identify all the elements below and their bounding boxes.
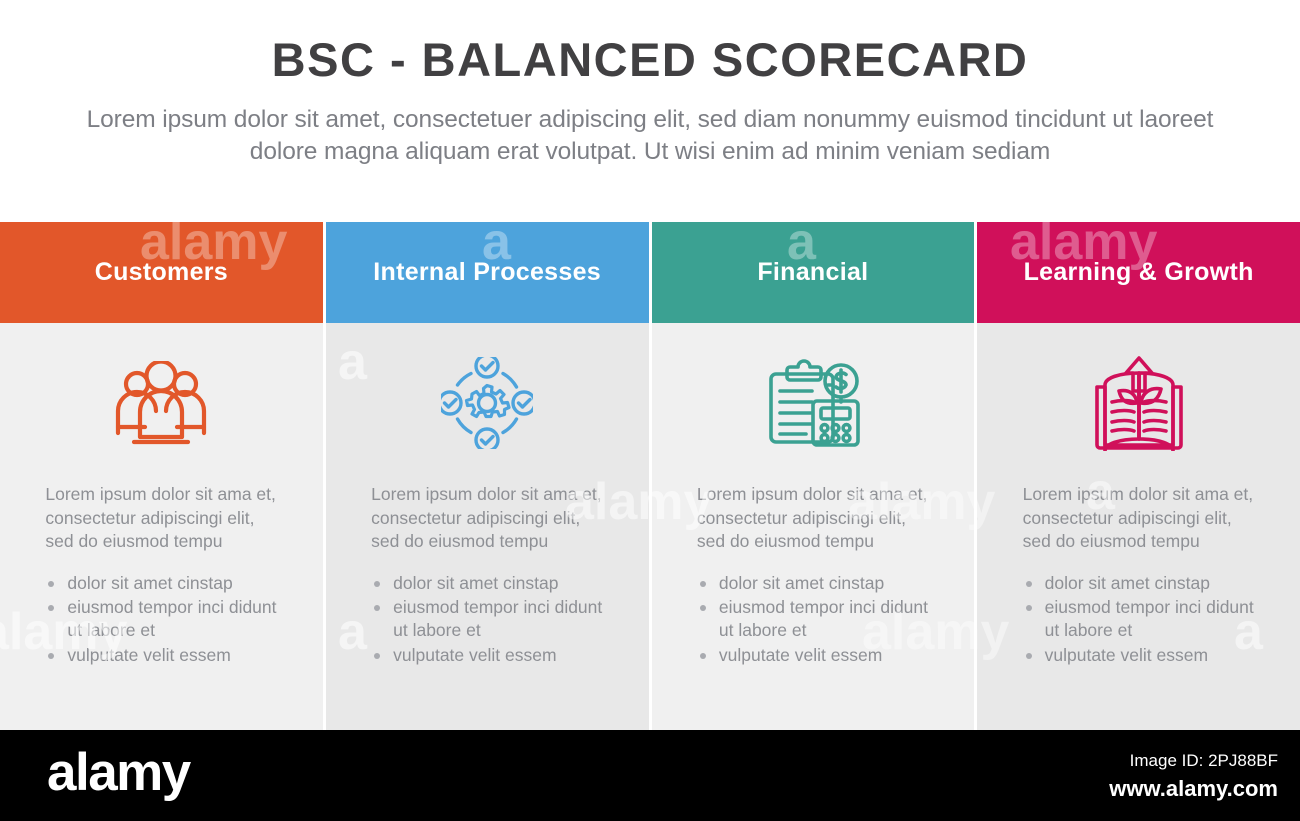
page-title: BSC - BALANCED SCORECARD xyxy=(0,34,1300,87)
column-title: Internal Processes xyxy=(373,258,601,287)
column-description: Lorem ipsum dolor sit ama et, consectetu… xyxy=(1023,483,1255,554)
column-customers[interactable]: Customers Lorem ipsum xyxy=(0,222,323,730)
list-item: dolor sit amet cinstap xyxy=(371,572,603,595)
column-body-financial: Lorem ipsum dolor sit ama et, consectetu… xyxy=(652,323,975,730)
column-title: Customers xyxy=(95,258,228,287)
list-item: dolor sit amet cinstap xyxy=(697,572,929,595)
column-header-customers: Customers xyxy=(0,222,323,323)
list-item: vulputate velit essem xyxy=(371,644,603,667)
column-financial[interactable]: Financial xyxy=(652,222,975,730)
column-bullet-list: dolor sit amet cinstap eiusmod tempor in… xyxy=(371,572,603,668)
list-item: vulputate velit essem xyxy=(1023,644,1255,667)
list-item: eiusmod tempor inci didunt ut labore et xyxy=(371,596,603,643)
column-title: Learning & Growth xyxy=(1024,258,1254,287)
column-internal-processes[interactable]: Internal Processes xyxy=(326,222,649,730)
list-item: dolor sit amet cinstap xyxy=(45,572,277,595)
gear-checkmarks-icon xyxy=(441,347,533,459)
column-learning-growth[interactable]: Learning & Growth xyxy=(977,222,1300,730)
list-item: eiusmod tempor inci didunt ut labore et xyxy=(1023,596,1255,643)
book-plant-growth-icon xyxy=(1092,347,1186,459)
image-id-label: Image ID: 2PJ88BF xyxy=(1130,751,1278,771)
column-description: Lorem ipsum dolor sit ama et, consectetu… xyxy=(45,483,277,554)
column-bullet-list: dolor sit amet cinstap eiusmod tempor in… xyxy=(697,572,929,668)
list-item: eiusmod tempor inci didunt ut labore et xyxy=(697,596,929,643)
list-item: vulputate velit essem xyxy=(45,644,277,667)
alamy-url[interactable]: www.alamy.com xyxy=(1109,776,1278,802)
list-item: dolor sit amet cinstap xyxy=(1023,572,1255,595)
group-people-icon xyxy=(115,347,207,459)
column-bullet-list: dolor sit amet cinstap eiusmod tempor in… xyxy=(45,572,277,668)
list-item: eiusmod tempor inci didunt ut labore et xyxy=(45,596,277,643)
header: BSC - BALANCED SCORECARD Lorem ipsum dol… xyxy=(0,0,1300,169)
column-description: Lorem ipsum dolor sit ama et, consectetu… xyxy=(371,483,603,554)
clipboard-calculator-dollar-icon xyxy=(766,347,860,459)
column-header-financial: Financial xyxy=(652,222,975,323)
column-description: Lorem ipsum dolor sit ama et, consectetu… xyxy=(697,483,929,554)
column-header-learning-growth: Learning & Growth xyxy=(977,222,1300,323)
column-body-customers: Lorem ipsum dolor sit ama et, consectetu… xyxy=(0,323,323,730)
column-bullet-list: dolor sit amet cinstap eiusmod tempor in… xyxy=(1023,572,1255,668)
list-item: vulputate velit essem xyxy=(697,644,929,667)
footer-bar: alamy Image ID: 2PJ88BF www.alamy.com xyxy=(0,730,1300,821)
scorecard-columns: Customers Lorem ipsum xyxy=(0,222,1300,730)
column-body-internal-processes: Lorem ipsum dolor sit ama et, consectetu… xyxy=(326,323,649,730)
alamy-logo: alamy xyxy=(47,746,190,799)
column-title: Financial xyxy=(757,258,868,287)
infographic-page: BSC - BALANCED SCORECARD Lorem ipsum dol… xyxy=(0,0,1300,821)
page-subtitle: Lorem ipsum dolor sit amet, consectetuer… xyxy=(0,104,1300,169)
column-body-learning-growth: Lorem ipsum dolor sit ama et, consectetu… xyxy=(977,323,1300,730)
column-header-internal-processes: Internal Processes xyxy=(326,222,649,323)
